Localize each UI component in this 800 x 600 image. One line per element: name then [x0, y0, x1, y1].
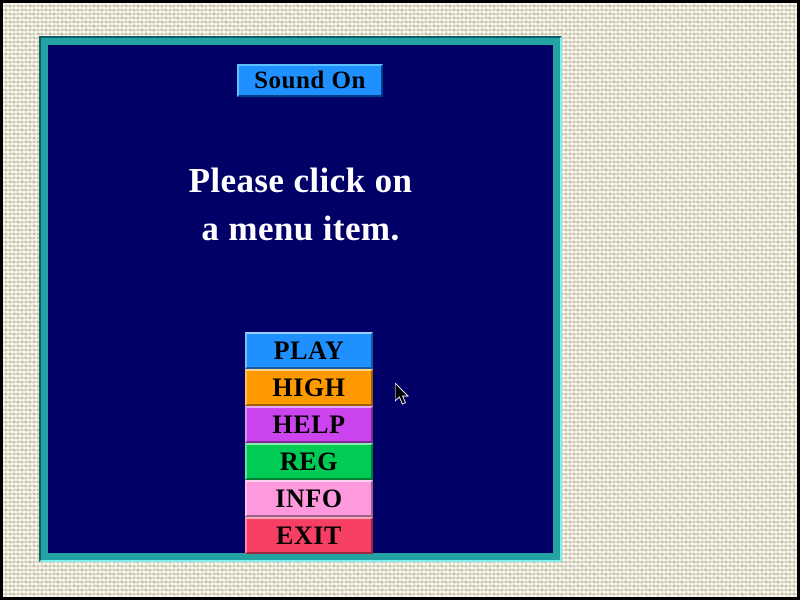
menu-item-play[interactable]: PLAY [245, 332, 373, 369]
menu-item-help[interactable]: HELP [245, 406, 373, 443]
menu-item-exit-label: EXIT [276, 523, 342, 549]
prompt-line-1: Please click on [48, 157, 553, 205]
prompt-message: Please click on a menu item. [48, 157, 553, 253]
prompt-line-2: a menu item. [48, 205, 553, 253]
menu-item-exit[interactable]: EXIT [245, 517, 373, 554]
menu-item-info-label: INFO [275, 486, 342, 512]
menu-item-reg-label: REG [280, 449, 338, 475]
game-panel: Sound On Please click on a menu item. PL… [48, 45, 553, 553]
menu-item-help-label: HELP [272, 412, 345, 438]
menu-item-high[interactable]: HIGH [245, 369, 373, 406]
menu-item-play-label: PLAY [274, 338, 345, 364]
game-panel-frame: Sound On Please click on a menu item. PL… [39, 36, 562, 562]
sound-toggle-button[interactable]: Sound On [237, 64, 383, 97]
menu-item-reg[interactable]: REG [245, 443, 373, 480]
menu-item-high-label: HIGH [272, 375, 345, 401]
app-screen: Sound On Please click on a menu item. PL… [0, 0, 800, 600]
sound-toggle-label: Sound On [254, 68, 366, 93]
mouse-cursor-icon [395, 383, 411, 407]
main-menu: PLAY HIGH HELP REG INFO EXIT [245, 332, 373, 554]
menu-item-info[interactable]: INFO [245, 480, 373, 517]
